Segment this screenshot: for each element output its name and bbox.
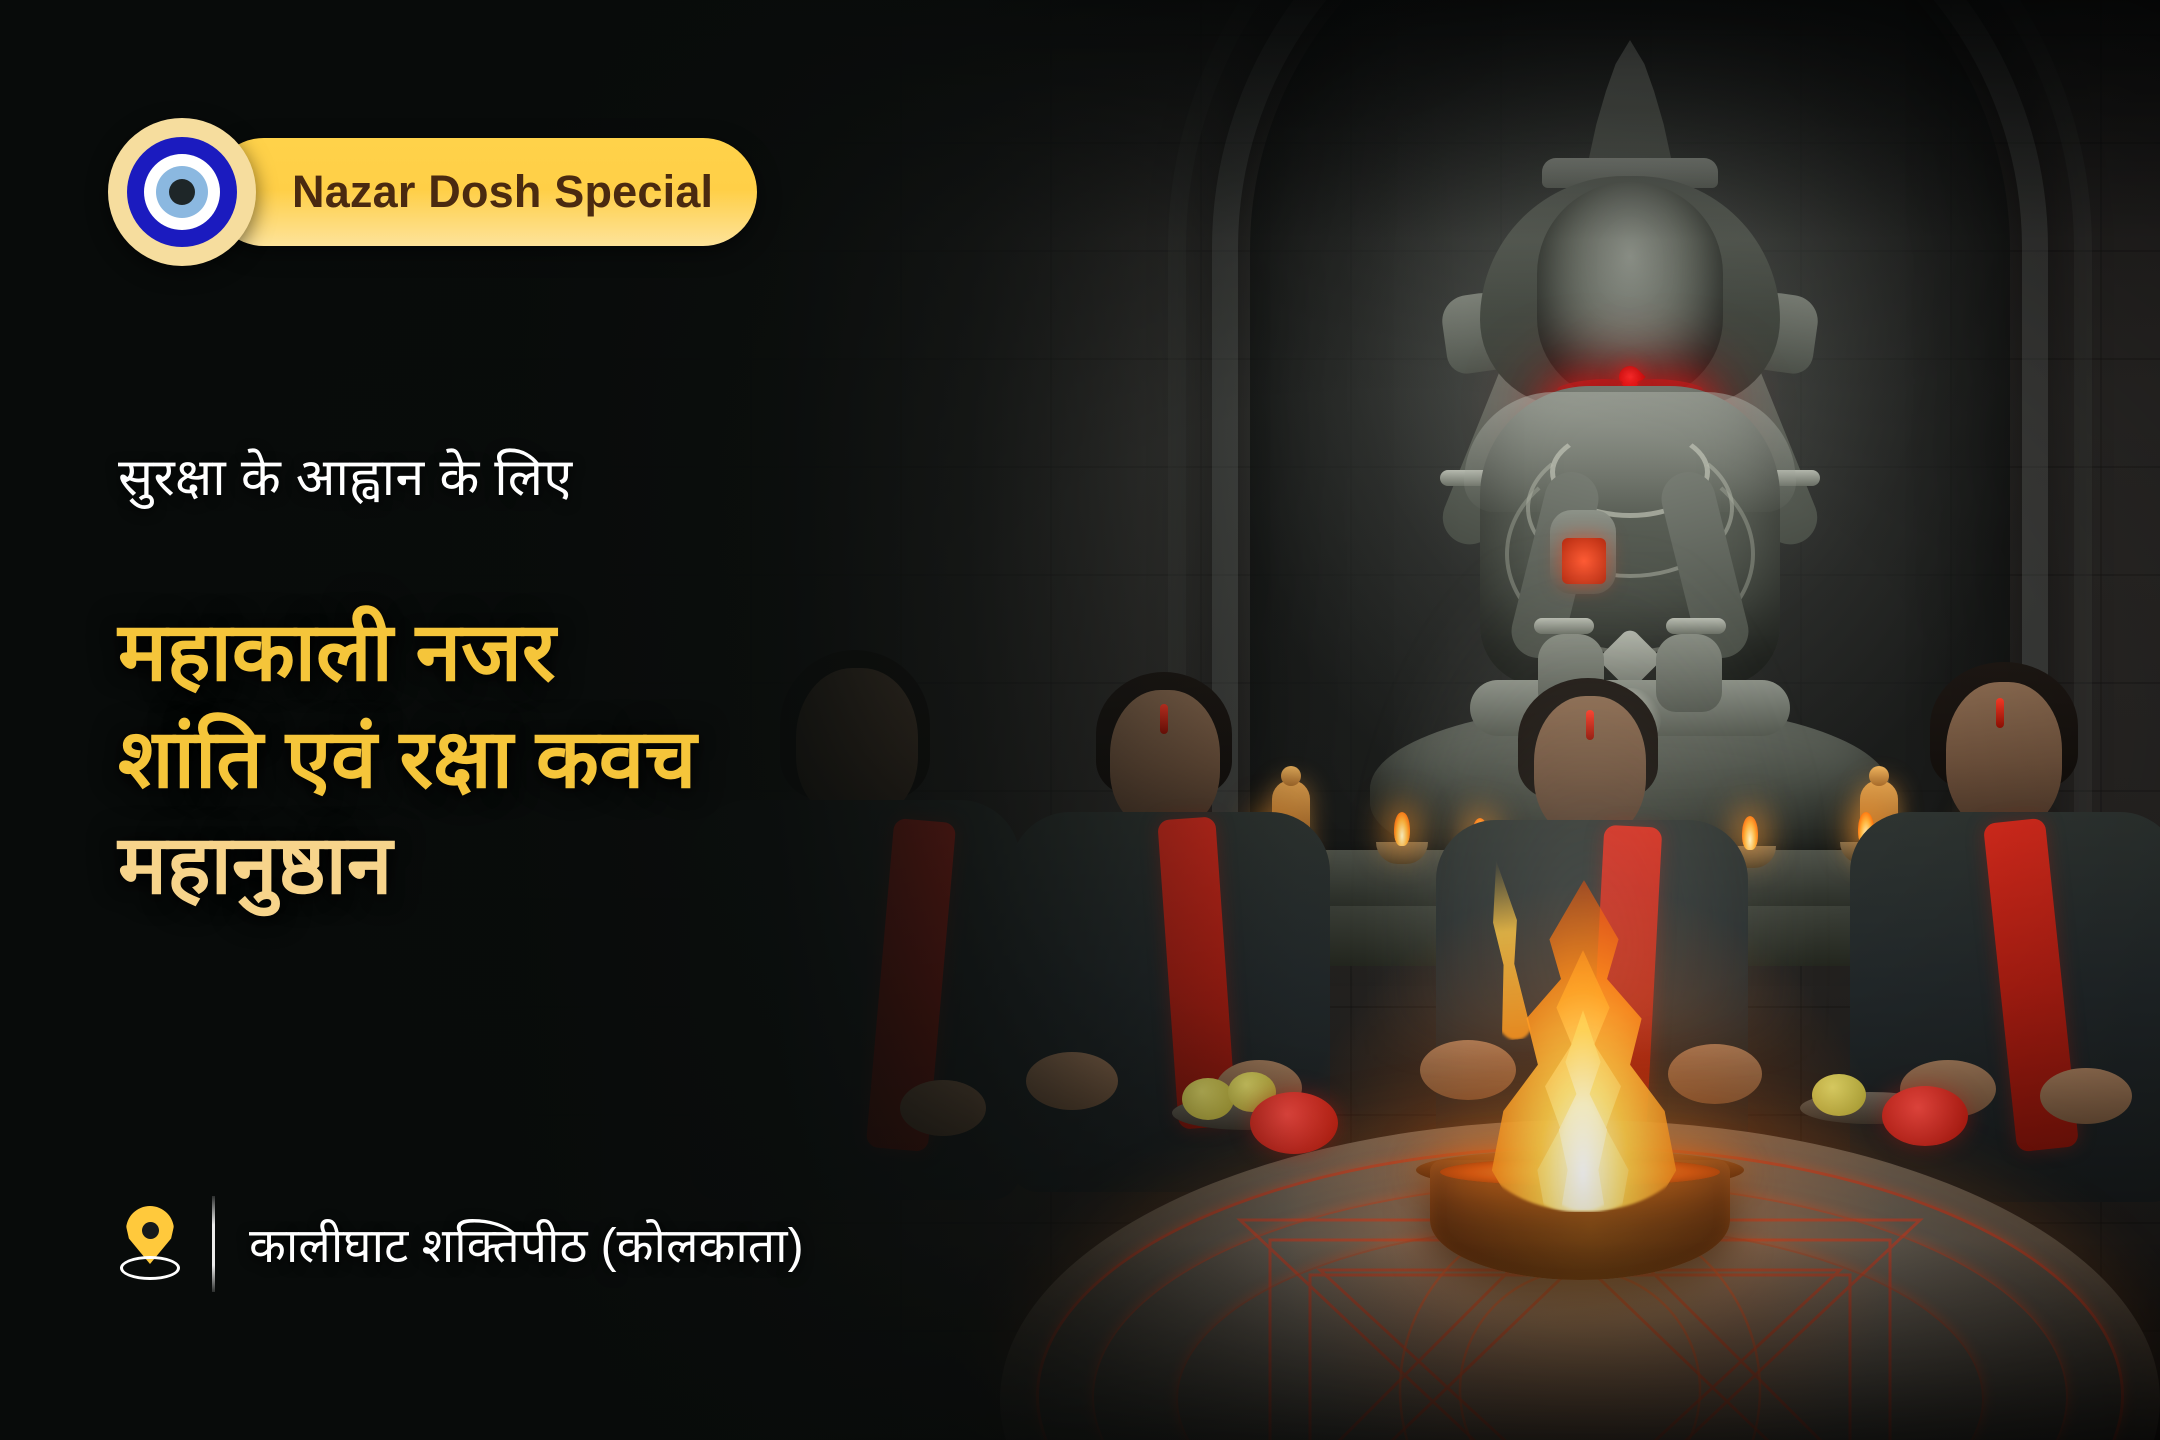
promo-poster: Nazar Dosh Special सुरक्षा के आह्वान के …	[0, 0, 2160, 1440]
badge-label: Nazar Dosh Special	[292, 166, 713, 218]
headline-line-2: शांति एवं रक्षा कवच	[118, 707, 1048, 814]
nazar-evil-eye-icon	[108, 118, 256, 266]
headline-line-1: महाकाली नजर	[118, 600, 1048, 707]
headline-block: महाकाली नजर शांति एवं रक्षा कवच महानुष्ठ…	[118, 600, 1048, 920]
nazar-dosh-badge[interactable]: Nazar Dosh Special	[108, 118, 757, 266]
nazar-ring-blue	[127, 137, 237, 247]
nazar-iris	[156, 166, 208, 218]
pin-base-ellipse	[120, 1256, 180, 1280]
poster-content: Nazar Dosh Special सुरक्षा के आह्वान के …	[0, 0, 2160, 1440]
location-divider	[212, 1196, 215, 1292]
location-pin-icon	[118, 1206, 182, 1282]
location-block: कालीघाट शक्तिपीठ (कोलकाता)	[118, 1196, 804, 1292]
badge-pill[interactable]: Nazar Dosh Special	[210, 138, 757, 246]
headline-line-3: महानुष्ठान	[118, 813, 1048, 920]
nazar-pupil	[169, 179, 195, 205]
location-text: कालीघाट शक्तिपीठ (कोलकाता)	[249, 1212, 804, 1277]
kicker-text: सुरक्षा के आह्वान के लिए	[118, 440, 572, 511]
pin-hole	[142, 1222, 159, 1239]
nazar-ring-white	[144, 154, 220, 230]
